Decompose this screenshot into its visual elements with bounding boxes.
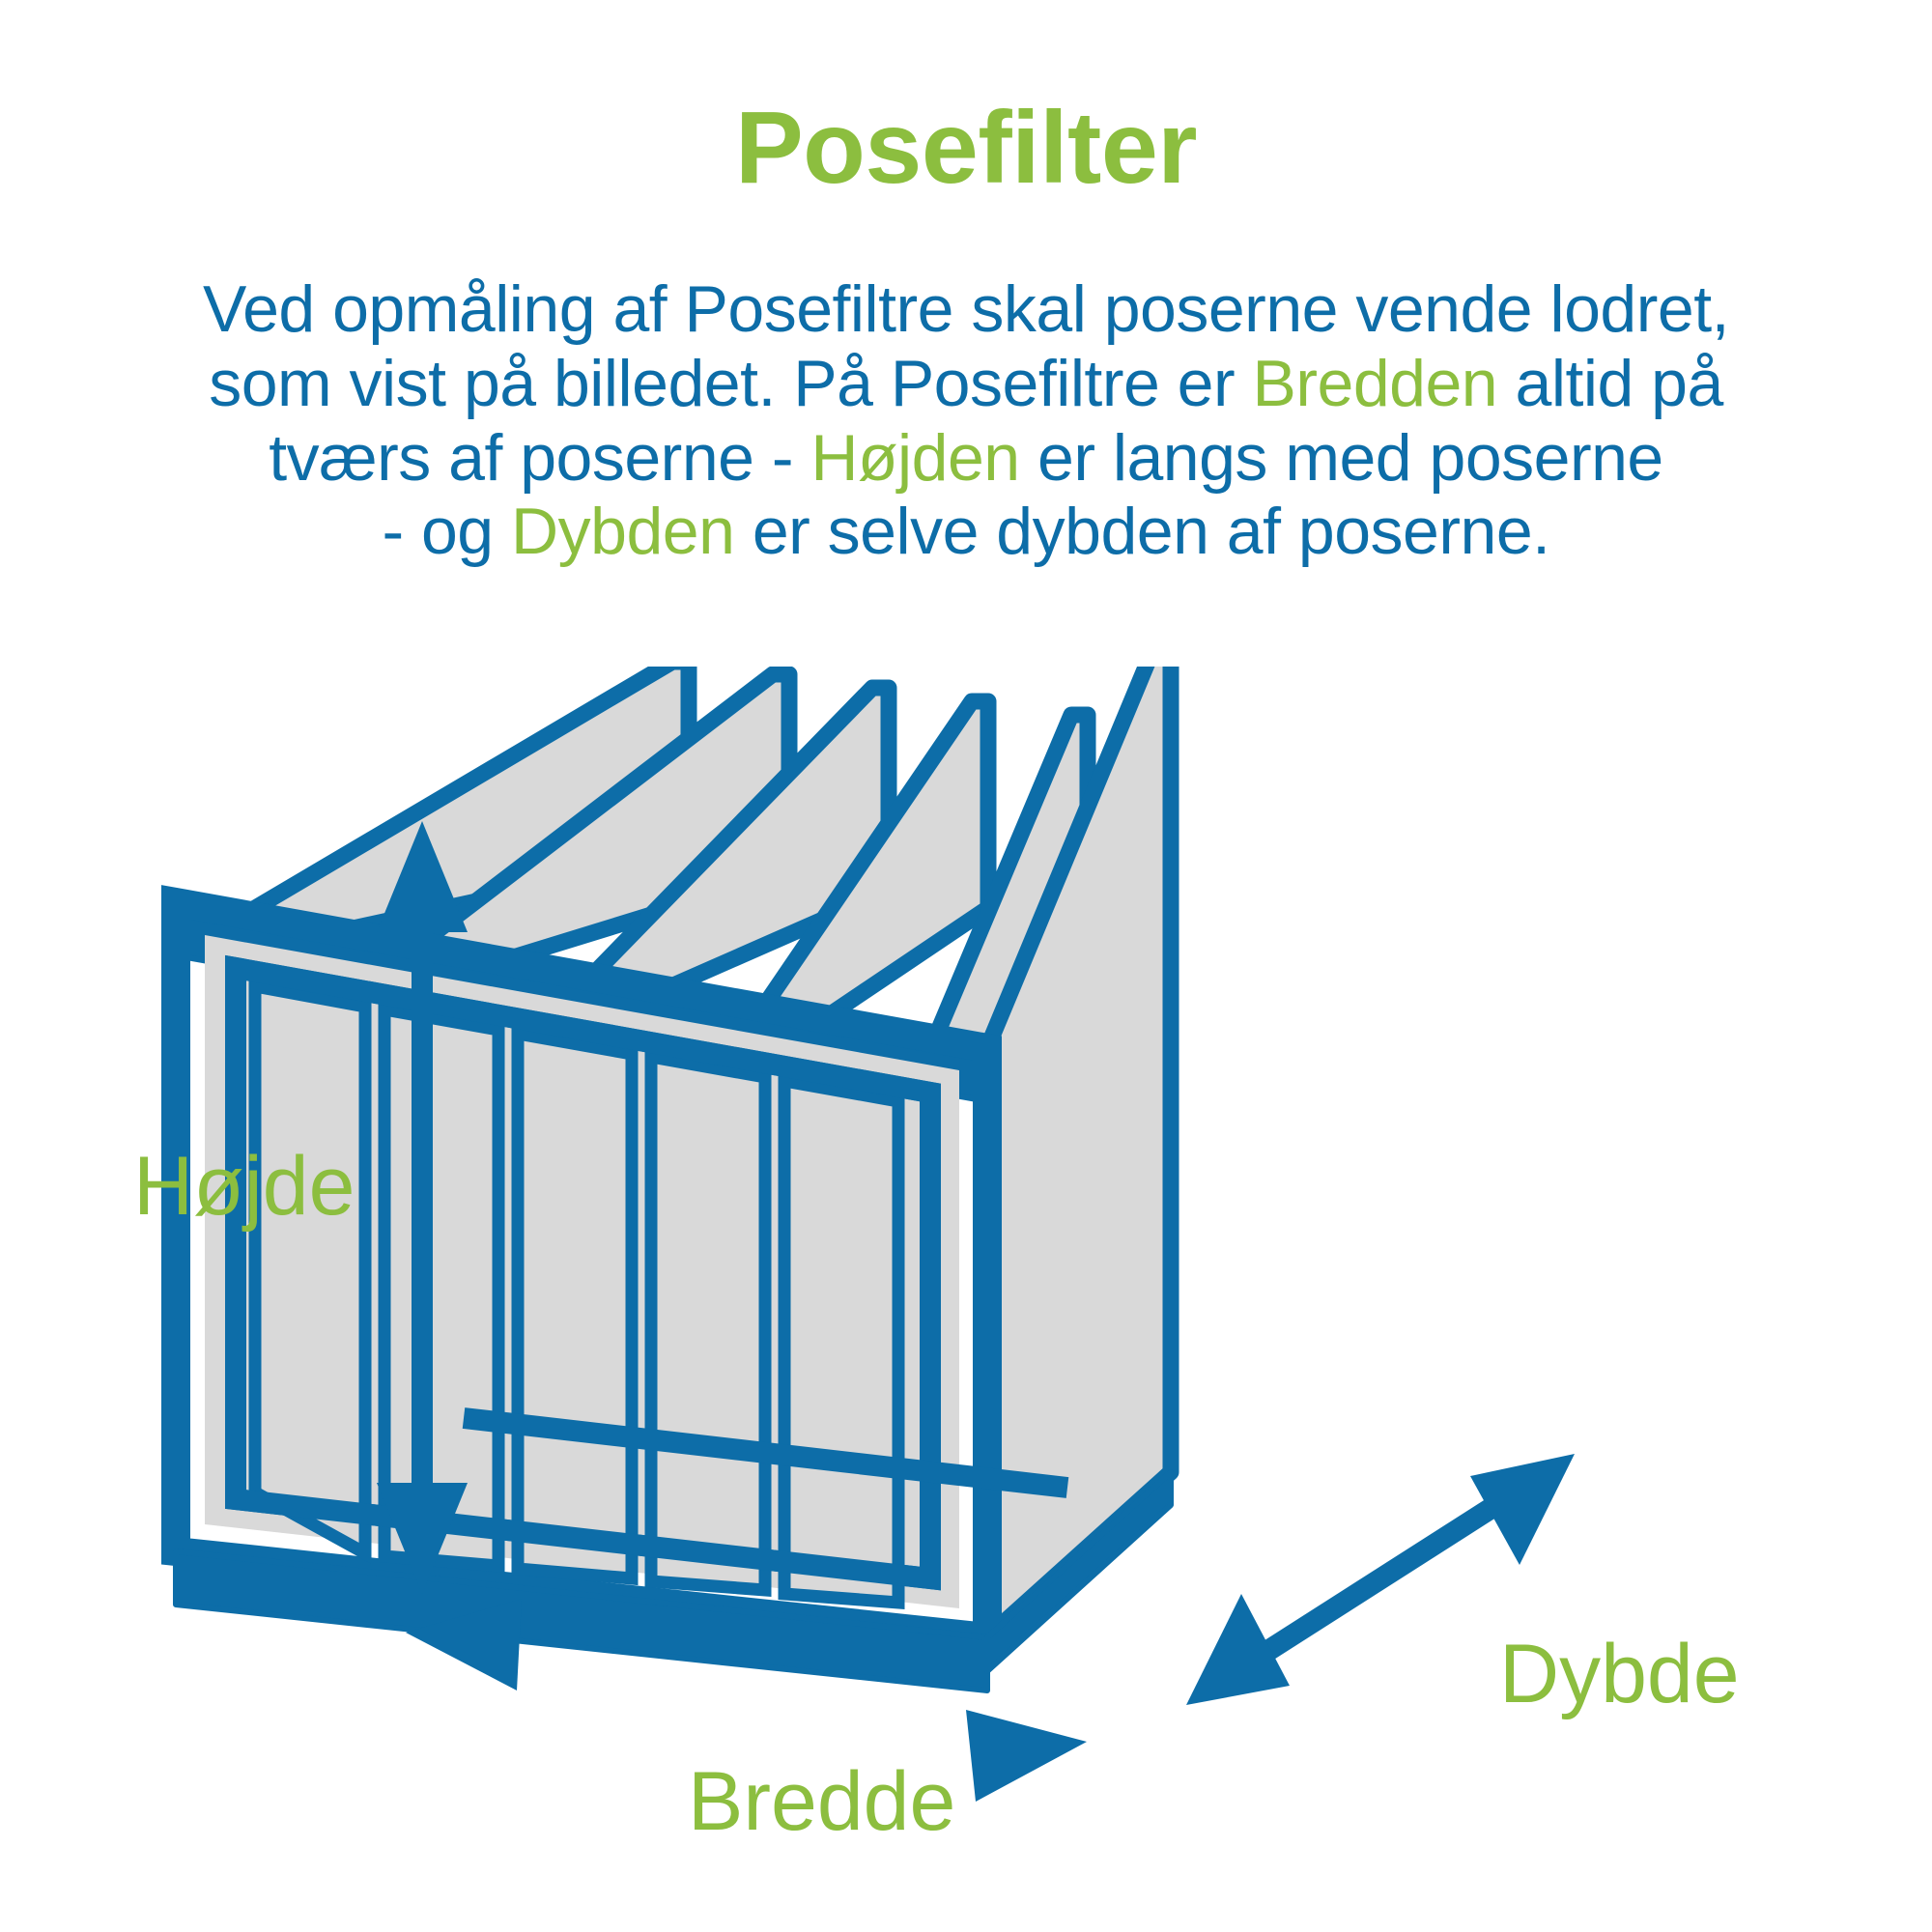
pocket-face-5 <box>784 1081 898 1603</box>
intro-line-1: Ved opmåling af Posefiltre skal poserne … <box>203 272 1729 346</box>
page-title: Posefilter <box>0 93 1932 203</box>
bag-filter-diagram <box>0 667 1932 1932</box>
pocket-face-4 <box>651 1057 765 1590</box>
pocket-face-2 <box>384 1009 498 1566</box>
pocket-face-1 <box>255 986 365 1553</box>
intro-highlight-dybden: Dybden <box>511 495 734 568</box>
poster-root: Posefilter Ved opmåling af Posefiltre sk… <box>0 0 1932 1932</box>
dimension-label-height: Højde <box>133 1145 355 1228</box>
dimension-label-width: Bredde <box>688 1760 955 1843</box>
intro-line-2-part-b: altid på <box>1497 347 1723 420</box>
pocket-face-3 <box>518 1034 632 1578</box>
pocket-top-6 <box>1190 667 1200 708</box>
intro-line-2-part-a: som vist på billedet. På Posefiltre er <box>209 347 1252 420</box>
intro-line-3-part-b: er langs med poserne <box>1020 421 1663 495</box>
intro-highlight-hojden: Højden <box>810 421 1019 495</box>
intro-highlight-bredden: Bredden <box>1253 347 1498 420</box>
dimension-label-depth: Dybde <box>1499 1633 1740 1716</box>
intro-line-4-part-b: er selve dybden af poserne. <box>734 495 1549 568</box>
intro-line-3-part-a: tværs af poserne - <box>269 421 810 495</box>
intro-paragraph: Ved opmåling af Posefiltre skal poserne … <box>68 272 1864 569</box>
intro-line-4-part-a: - og <box>382 495 511 568</box>
